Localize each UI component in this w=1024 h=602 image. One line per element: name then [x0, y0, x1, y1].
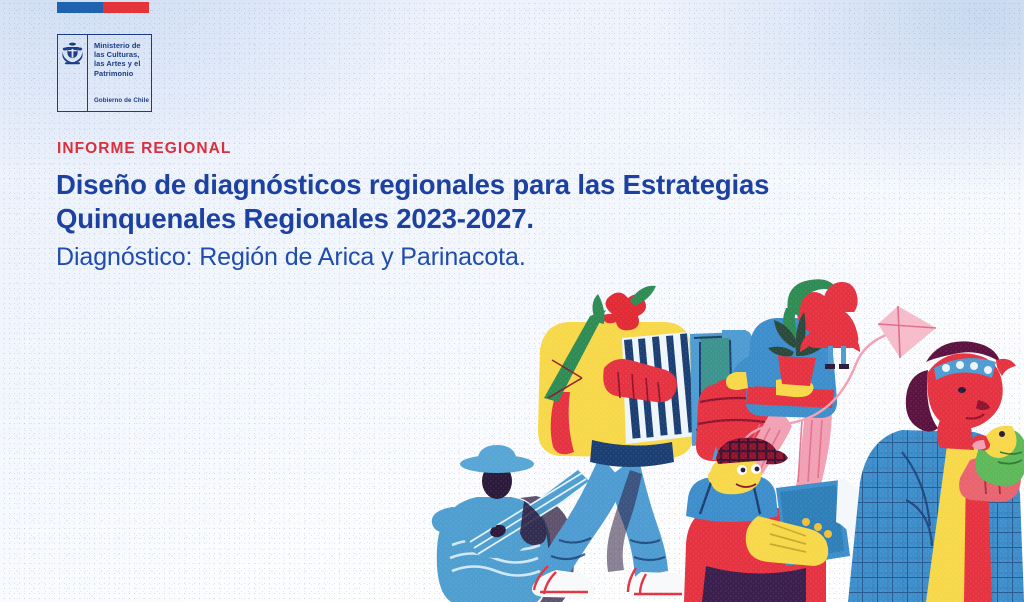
- report-kicker: INFORME REGIONAL: [57, 140, 231, 158]
- page-title: Diseño de diagnósticos regionales para l…: [56, 168, 886, 236]
- ministry-logo: Ministerio de las Culturas, las Artes y …: [57, 34, 152, 112]
- government-line: Gobierno de Chile: [94, 97, 149, 104]
- ministry-logo-text: Ministerio de las Culturas, las Artes y …: [88, 35, 151, 111]
- flag-blue-half: [57, 2, 103, 13]
- chile-coat-of-arms-icon: [58, 35, 88, 111]
- flag-red-half: [103, 2, 149, 13]
- report-cover-page: Ministerio de las Culturas, las Artes y …: [0, 0, 1024, 602]
- ministry-name: Ministerio de las Culturas, las Artes y …: [94, 41, 151, 78]
- background-paper-texture-fine: [0, 0, 1024, 602]
- chilean-flag-bar: [57, 2, 149, 13]
- page-subtitle: Diagnóstico: Región de Arica y Parinacot…: [56, 242, 886, 273]
